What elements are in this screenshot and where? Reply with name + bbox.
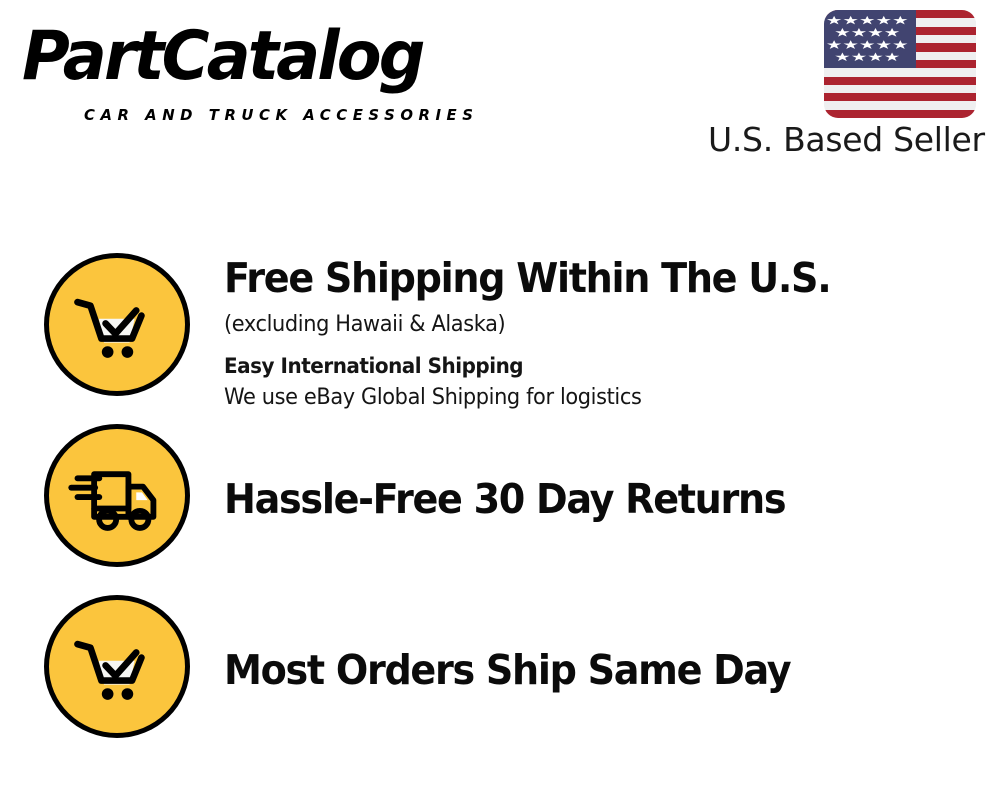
cart-check-icon: [44, 595, 190, 738]
feature-heading: Hassle-Free 30 Day Returns: [224, 474, 912, 524]
feature-text-block: Most Orders Ship Same Day: [224, 645, 964, 695]
feature-subheading: Easy International Shipping: [224, 350, 927, 382]
feature-note: (excluding Hawaii & Alaska): [224, 309, 927, 341]
feature-subnote: We use eBay Global Shipping for logistic…: [224, 382, 927, 414]
delivery-truck-icon: [44, 424, 190, 567]
cart-check-icon: [44, 253, 190, 396]
feature-text-block: Free Shipping Within The U.S. (excluding…: [224, 253, 964, 414]
feature-list: Free Shipping Within The U.S. (excluding…: [0, 0, 1000, 800]
feature-row: Most Orders Ship Same Day: [0, 595, 1000, 745]
feature-heading: Free Shipping Within The U.S.: [224, 253, 912, 303]
feature-heading: Most Orders Ship Same Day: [224, 645, 912, 695]
feature-text-block: Hassle-Free 30 Day Returns: [224, 474, 964, 524]
feature-row: Hassle-Free 30 Day Returns: [0, 424, 1000, 574]
feature-row: Free Shipping Within The U.S. (excluding…: [0, 253, 1000, 403]
